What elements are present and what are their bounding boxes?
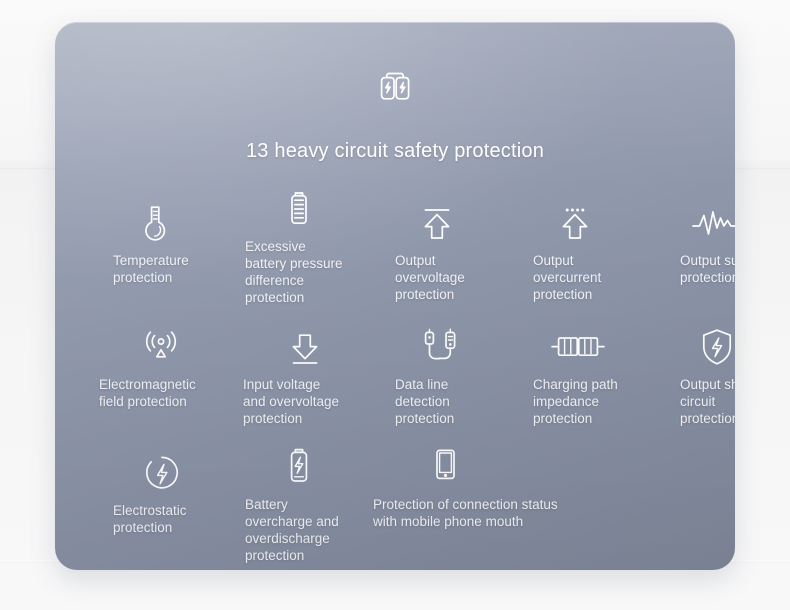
feature-temperature-protection[interactable]: Temperature protection: [109, 200, 231, 286]
feature-output-overvoltage-protection[interactable]: Output overvoltage protection: [395, 200, 515, 303]
feature-input-voltage-and-overvoltage-protection[interactable]: Input voltage and overvoltage protection: [243, 324, 371, 427]
page-title: 13 heavy circuit safety protection: [55, 140, 735, 163]
arrow-up-bar-icon: [395, 200, 515, 248]
feature-label: Data line detection protection: [395, 376, 513, 427]
header-icon-wrap: [55, 66, 735, 106]
feature-output-surge-protection[interactable]: Output surge protection: [680, 200, 735, 286]
feature-label: Battery overcharge and overdischarge pro…: [245, 496, 377, 564]
feature-label: Output surge protection: [680, 252, 735, 286]
arrow-up-dotted-icon: [533, 200, 651, 248]
feature-protection-of-connection-status-with-mobile-phone-mouth[interactable]: Protection of connection status with mob…: [373, 444, 673, 530]
thermometer-icon: [109, 200, 231, 248]
circle-bolt-icon: [111, 450, 233, 498]
feature-excessive-battery-pressure-difference-protection[interactable]: Excessive battery pressure difference pr…: [245, 186, 375, 306]
safety-protection-card: 13 heavy circuit safety protection Tempe…: [55, 22, 735, 570]
feature-electromagnetic-field-protection[interactable]: Electromagnetic field protection: [99, 324, 231, 410]
feature-battery-overcharge-and-overdischarge-protection[interactable]: Battery overcharge and overdischarge pro…: [245, 444, 377, 564]
feature-electrostatic-protection[interactable]: Electrostatic protection: [111, 450, 233, 536]
waveform-surge-icon: [680, 200, 735, 248]
feature-output-overcurrent-protection[interactable]: Output overcurrent protection: [533, 200, 651, 303]
battery-bolt-icon: [245, 444, 377, 492]
feature-label: Output overcurrent protection: [533, 252, 651, 303]
feature-label: Electrostatic protection: [111, 502, 233, 536]
feature-charging-path-impedance-protection[interactable]: Charging path impedance protection: [533, 324, 653, 427]
screenshot-root: 13 heavy circuit safety protection Tempe…: [0, 0, 790, 610]
resistor-icon: [533, 324, 653, 372]
feature-label: Protection of connection status with mob…: [373, 496, 673, 530]
feature-grid: Temperature protection Excessive battery…: [55, 200, 735, 570]
feature-row-1: Temperature protection Excessive battery…: [55, 200, 735, 320]
feature-row-2: Electromagnetic field protection Input v…: [55, 324, 735, 444]
feature-label: Electromagnetic field protection: [99, 376, 231, 410]
feature-row-3: Electrostatic protection Battery overcha…: [55, 450, 735, 570]
smartphone-icon: [373, 444, 673, 492]
usb-cable-icon: [395, 324, 513, 372]
feature-label: Charging path impedance protection: [533, 376, 653, 427]
arrow-down-bar-icon: [243, 324, 371, 372]
feature-label: Excessive battery pressure difference pr…: [245, 238, 375, 306]
radio-waves-icon: [99, 324, 231, 372]
feature-label: Output overvoltage protection: [395, 252, 515, 303]
feature-label: Temperature protection: [109, 252, 231, 286]
feature-output-short-circuit-protection[interactable]: Output short circuit protection: [680, 324, 735, 427]
feature-data-line-detection-protection[interactable]: Data line detection protection: [395, 324, 513, 427]
feature-label: Input voltage and overvoltage protection: [243, 376, 371, 427]
shield-bolt-icon: [680, 324, 735, 372]
feature-label: Output short circuit protection: [680, 376, 735, 427]
battery-level-icon: [245, 186, 375, 234]
dual-battery-charge-icon: [376, 66, 414, 106]
